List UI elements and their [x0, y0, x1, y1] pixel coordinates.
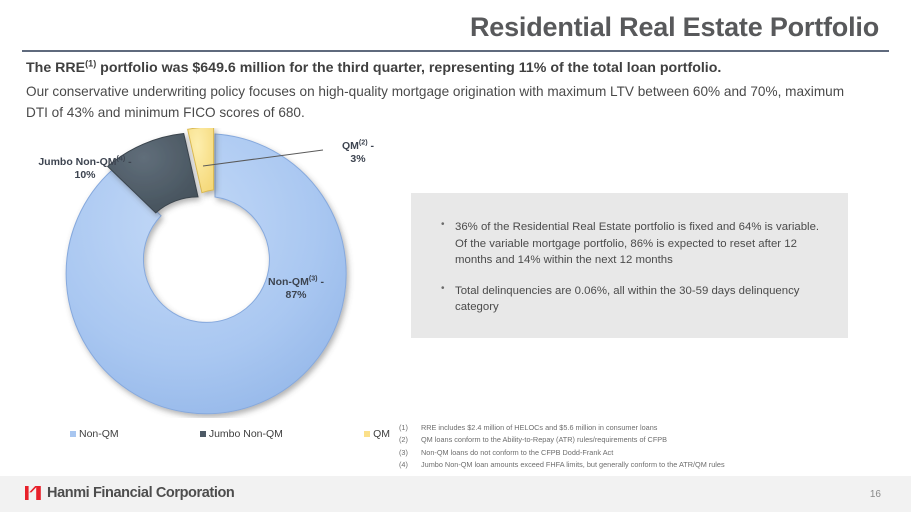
highlights-bullet-list: 36% of the Residential Real Estate portf… [411, 193, 848, 316]
portfolio-composition-donut-chart: Jumbo Non-QM(4) -10% QM(2) -3% Non-QM(3)… [55, 128, 385, 418]
legend-item-non-qm[interactable]: Non-QM [70, 428, 119, 440]
page-title: Residential Real Estate Portfolio [470, 12, 879, 43]
footnote-marker: (2) [399, 436, 421, 443]
slice-label-jumbo-non-qm: Jumbo Non-QM(4) -10% [25, 156, 145, 182]
footnote-row: (3) Non-QM loans do not conform to the C… [399, 449, 859, 456]
footnote-marker: (4) [399, 461, 421, 468]
footnote-text: Jumbo Non-QM loan amounts exceed FHFA li… [421, 461, 725, 468]
footnote-text: Non-QM loans do not conform to the CFPB … [421, 449, 613, 456]
slice-label-non-qm-name: Non-QM [268, 276, 309, 288]
slice-label-jumbo-non-qm-name: Jumbo Non-QM [38, 156, 116, 168]
legend-item-qm[interactable]: QM [364, 428, 390, 440]
highlights-callout-box: 36% of the Residential Real Estate portf… [411, 193, 848, 338]
lead-statement-prefix: The RRE [26, 60, 85, 76]
footnotes-block: (1) RRE includes $2.4 million of HELOCs … [399, 424, 859, 474]
footnote-row: (1) RRE includes $2.4 million of HELOCs … [399, 424, 859, 431]
footnote-row: (4) Jumbo Non-QM loan amounts exceed FHF… [399, 461, 859, 468]
hanmi-logo-icon [24, 484, 42, 502]
footnote-marker: (3) [399, 449, 421, 456]
lead-statement-rest: portfolio was $649.6 million for the thi… [96, 60, 721, 76]
footnote-text: RRE includes $2.4 million of HELOCs and … [421, 424, 657, 431]
slice-label-qm: QM(2) -3% [323, 140, 393, 166]
footnote-row: (2) QM loans conform to the Ability-to-R… [399, 436, 859, 443]
slice-label-non-qm-value: 87% [285, 289, 306, 301]
slice-label-qm-footnote-ref: (2) [359, 139, 368, 147]
legend-label-jumbo-non-qm: Jumbo Non-QM [209, 428, 283, 440]
lead-statement: The RRE(1) portfolio was $649.6 million … [26, 60, 876, 78]
footnote-text: QM loans conform to the Ability-to-Repay… [421, 436, 667, 443]
legend-label-qm: QM [373, 428, 390, 440]
footnote-marker: (1) [399, 424, 421, 431]
page-number: 16 [870, 489, 881, 500]
highlight-bullet-delinquencies: Total delinquencies are 0.06%, all withi… [441, 283, 826, 316]
slice-label-non-qm-footnote-ref: (3) [309, 275, 318, 283]
intro-paragraph: Our conservative underwriting policy foc… [26, 81, 852, 123]
legend-swatch-qm [364, 431, 370, 437]
legend-label-non-qm: Non-QM [79, 428, 119, 440]
legend-item-jumbo-non-qm[interactable]: Jumbo Non-QM [200, 428, 283, 440]
legend-swatch-non-qm [70, 431, 76, 437]
slice-label-qm-value: 3% [350, 153, 365, 165]
slice-label-non-qm: Non-QM(3) -87% [251, 276, 341, 302]
title-divider [22, 50, 889, 52]
slice-label-qm-name: QM [342, 140, 359, 152]
legend-swatch-jumbo-non-qm [200, 431, 206, 437]
chart-legend: Non-QM Jumbo Non-QM QM [70, 428, 390, 440]
slice-label-jumbo-non-qm-footnote-ref: (4) [117, 155, 126, 163]
lead-statement-footnote-ref: (1) [85, 58, 96, 68]
slide-footer: Hanmi Financial Corporation 16 [0, 476, 911, 512]
brand-name: Hanmi Financial Corporation [47, 485, 234, 501]
highlight-bullet-fixed-variable: 36% of the Residential Real Estate portf… [441, 219, 826, 269]
slice-label-jumbo-non-qm-value: 10% [74, 169, 95, 181]
brand-lockup: Hanmi Financial Corporation [24, 484, 234, 502]
